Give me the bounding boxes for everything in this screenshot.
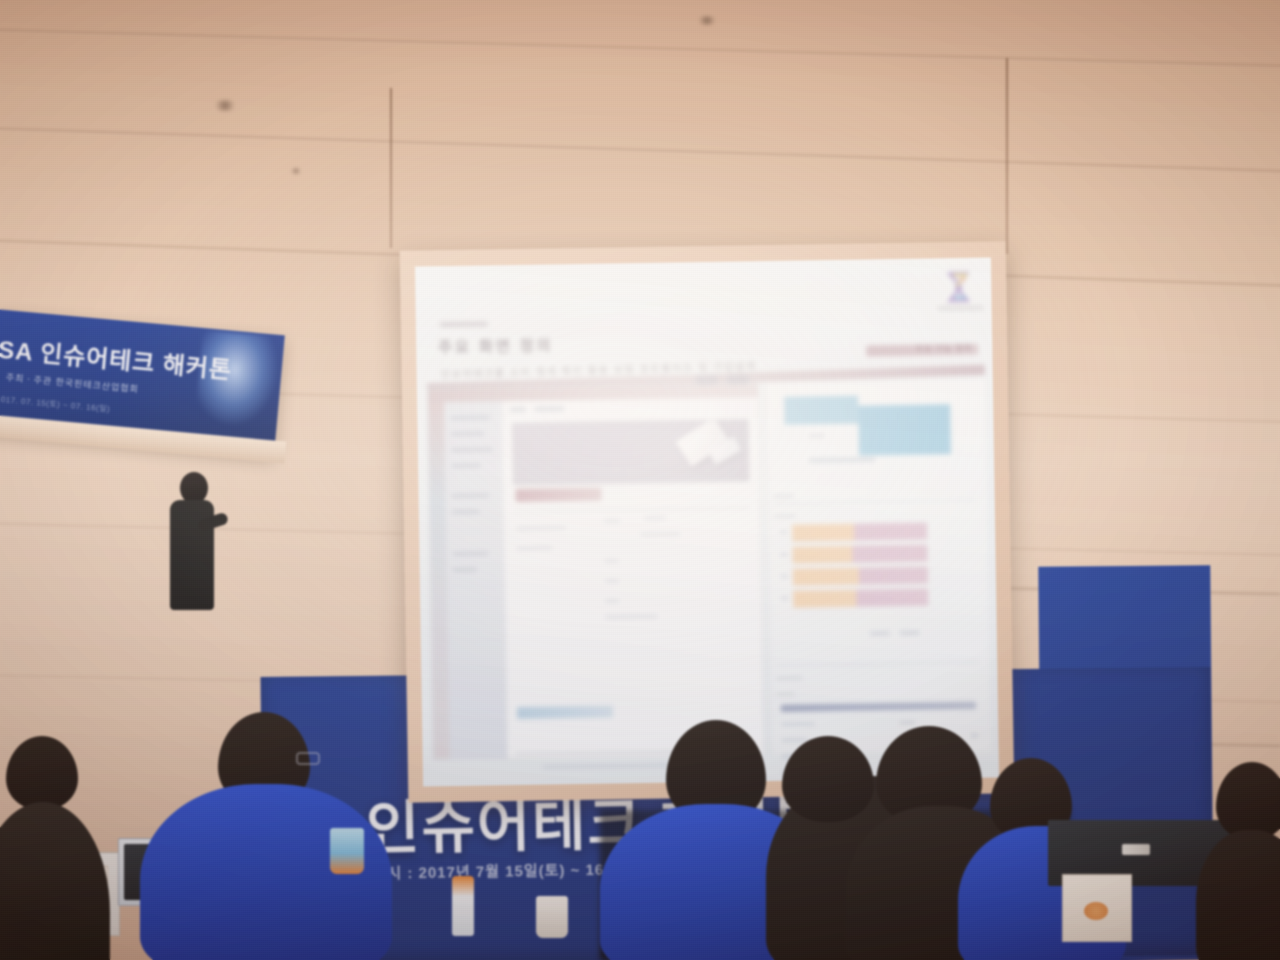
bar-axis-label xyxy=(781,575,788,578)
sidebar-item xyxy=(451,464,481,468)
tab-item[interactable] xyxy=(534,406,564,411)
left-banner-sub2: 2017. 07. 15(토) ~ 07. 16(일) xyxy=(0,393,111,414)
panel-text-line xyxy=(774,515,796,518)
mockup-text-line xyxy=(605,579,619,582)
attendee-head xyxy=(1216,762,1280,840)
audience-foreground xyxy=(0,680,1280,960)
panel-separator xyxy=(774,500,977,504)
sidebar-item xyxy=(451,447,493,452)
suspension-wire xyxy=(1006,58,1008,254)
sidebar-item xyxy=(452,551,488,556)
sidebar-item xyxy=(452,510,480,514)
panel-caption xyxy=(809,457,875,462)
attendee-head xyxy=(782,736,874,822)
mockup-hero-card xyxy=(512,419,749,485)
bar-chart xyxy=(768,520,988,619)
blue-cup xyxy=(330,828,364,874)
mockup-text-line xyxy=(605,599,619,602)
paper-cup xyxy=(536,896,568,938)
bar-segment-b xyxy=(859,567,928,585)
legend-swatch-b xyxy=(900,631,920,635)
chart-bar-row xyxy=(792,523,927,542)
conference-room-photo: SA 인슈어테크 해커톤 주최ㆍ주관 한국핀테크산업협회 2017. 07. 1… xyxy=(0,0,1280,960)
sidebar-item xyxy=(452,493,490,498)
rainbow-chevron-logo-icon xyxy=(943,270,976,304)
kpi-block-b xyxy=(858,404,951,455)
bar-segment-a xyxy=(792,546,852,564)
mockup-tabs xyxy=(510,406,564,412)
chart-bar-row xyxy=(793,567,928,586)
slide-tag-label: 주요 기능 정의 xyxy=(916,343,973,355)
bar-segment-b xyxy=(856,589,928,607)
sidebar-item xyxy=(450,415,490,420)
slide-title: 주요 화면 정의 xyxy=(438,334,553,357)
mockup-divider xyxy=(514,507,750,512)
bar-segment-a xyxy=(793,568,859,586)
legend-swatch-a xyxy=(870,631,890,635)
ceiling-mark xyxy=(290,168,302,174)
mockup-text-line xyxy=(516,526,566,530)
panel-text-line xyxy=(809,434,825,437)
attendee-shoulder xyxy=(0,802,110,960)
suspension-wire xyxy=(390,88,392,248)
panel-text-line xyxy=(774,495,794,498)
mockup-text-line xyxy=(605,559,619,562)
sidebar-item xyxy=(451,431,485,436)
eyeglasses xyxy=(296,752,320,765)
mockup-text-line xyxy=(640,532,680,536)
ceiling-mark xyxy=(212,100,238,111)
mockup-text-line xyxy=(644,517,666,520)
bar-segment-b xyxy=(854,523,927,541)
mockup-text-line xyxy=(604,519,620,522)
secondary-button[interactable] xyxy=(726,374,750,384)
mockup-text-line xyxy=(516,546,552,550)
ceiling-mark xyxy=(696,16,718,25)
attendee-head xyxy=(6,736,78,810)
mockup-action-buttons xyxy=(695,374,750,385)
laptop-brand-badge xyxy=(1122,844,1150,855)
bar-segment-b xyxy=(852,545,927,563)
bar-segment-a xyxy=(793,590,856,608)
chart-bar-row xyxy=(793,589,928,608)
bar-segment-a xyxy=(792,524,854,542)
kpi-block-a xyxy=(784,396,858,425)
logo-wordmark xyxy=(938,306,984,311)
chart-bar-row xyxy=(792,545,927,564)
sidebar-item xyxy=(453,568,477,572)
highlight-chip-red xyxy=(515,488,601,502)
bar-axis-label xyxy=(780,553,787,556)
bar-axis-label xyxy=(781,597,788,600)
panel-separator xyxy=(776,662,979,666)
tab-item[interactable] xyxy=(510,407,526,412)
mockup-text-line xyxy=(605,615,657,619)
bar-axis-label xyxy=(780,531,787,534)
water-bottle xyxy=(452,876,474,936)
orange-graphic xyxy=(1084,902,1108,920)
slide-eyebrow xyxy=(440,321,488,327)
primary-button[interactable] xyxy=(695,375,719,385)
